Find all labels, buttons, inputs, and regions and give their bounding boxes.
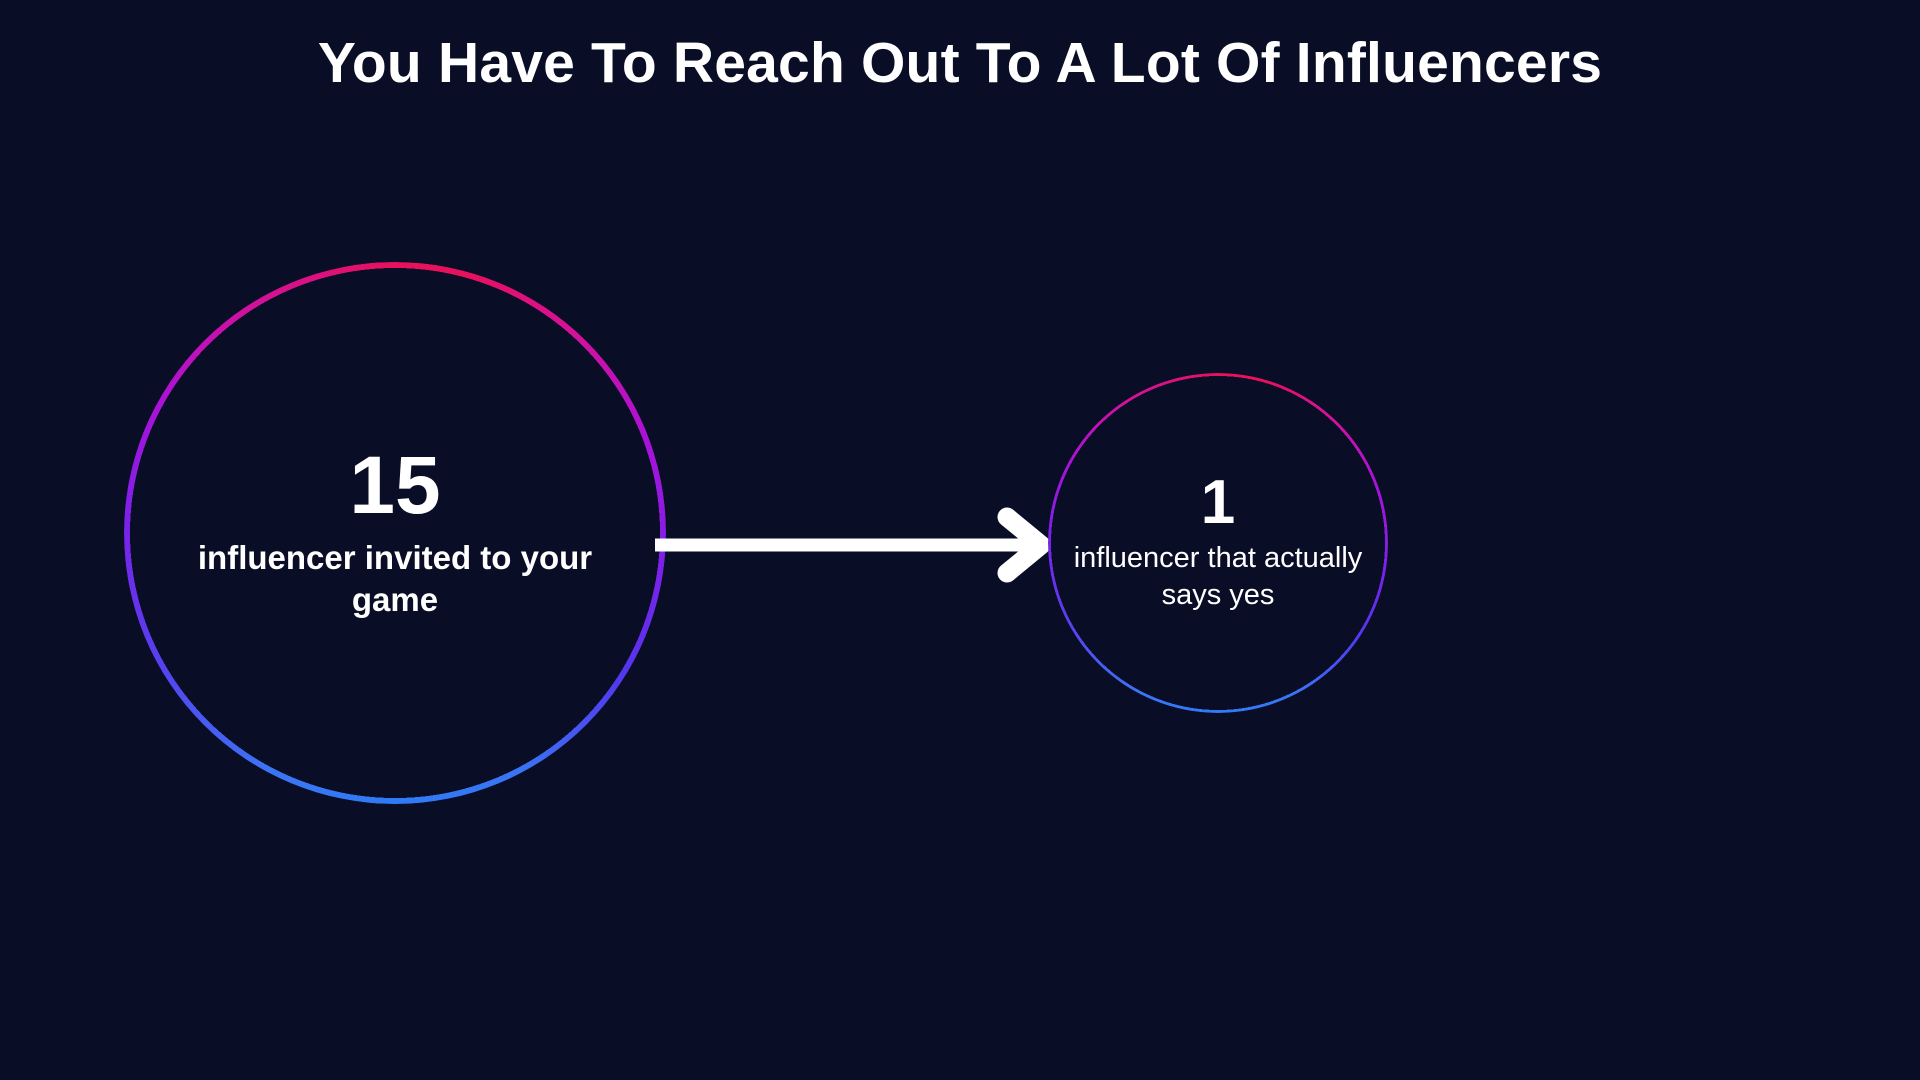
result-circle-number: 1 [1201,472,1235,534]
result-circle-label: influencer that actually says yes [1073,540,1363,613]
source-circle-label: influencer invited to your game [185,537,605,621]
diagram-stage: 15 influencer invited to your game 1 inf… [0,0,1920,1080]
result-circle: 1 influencer that actually says yes [1048,373,1388,713]
arrow-right-icon [655,505,1055,585]
source-circle: 15 influencer invited to your game [124,262,666,804]
source-circle-number: 15 [349,445,440,527]
